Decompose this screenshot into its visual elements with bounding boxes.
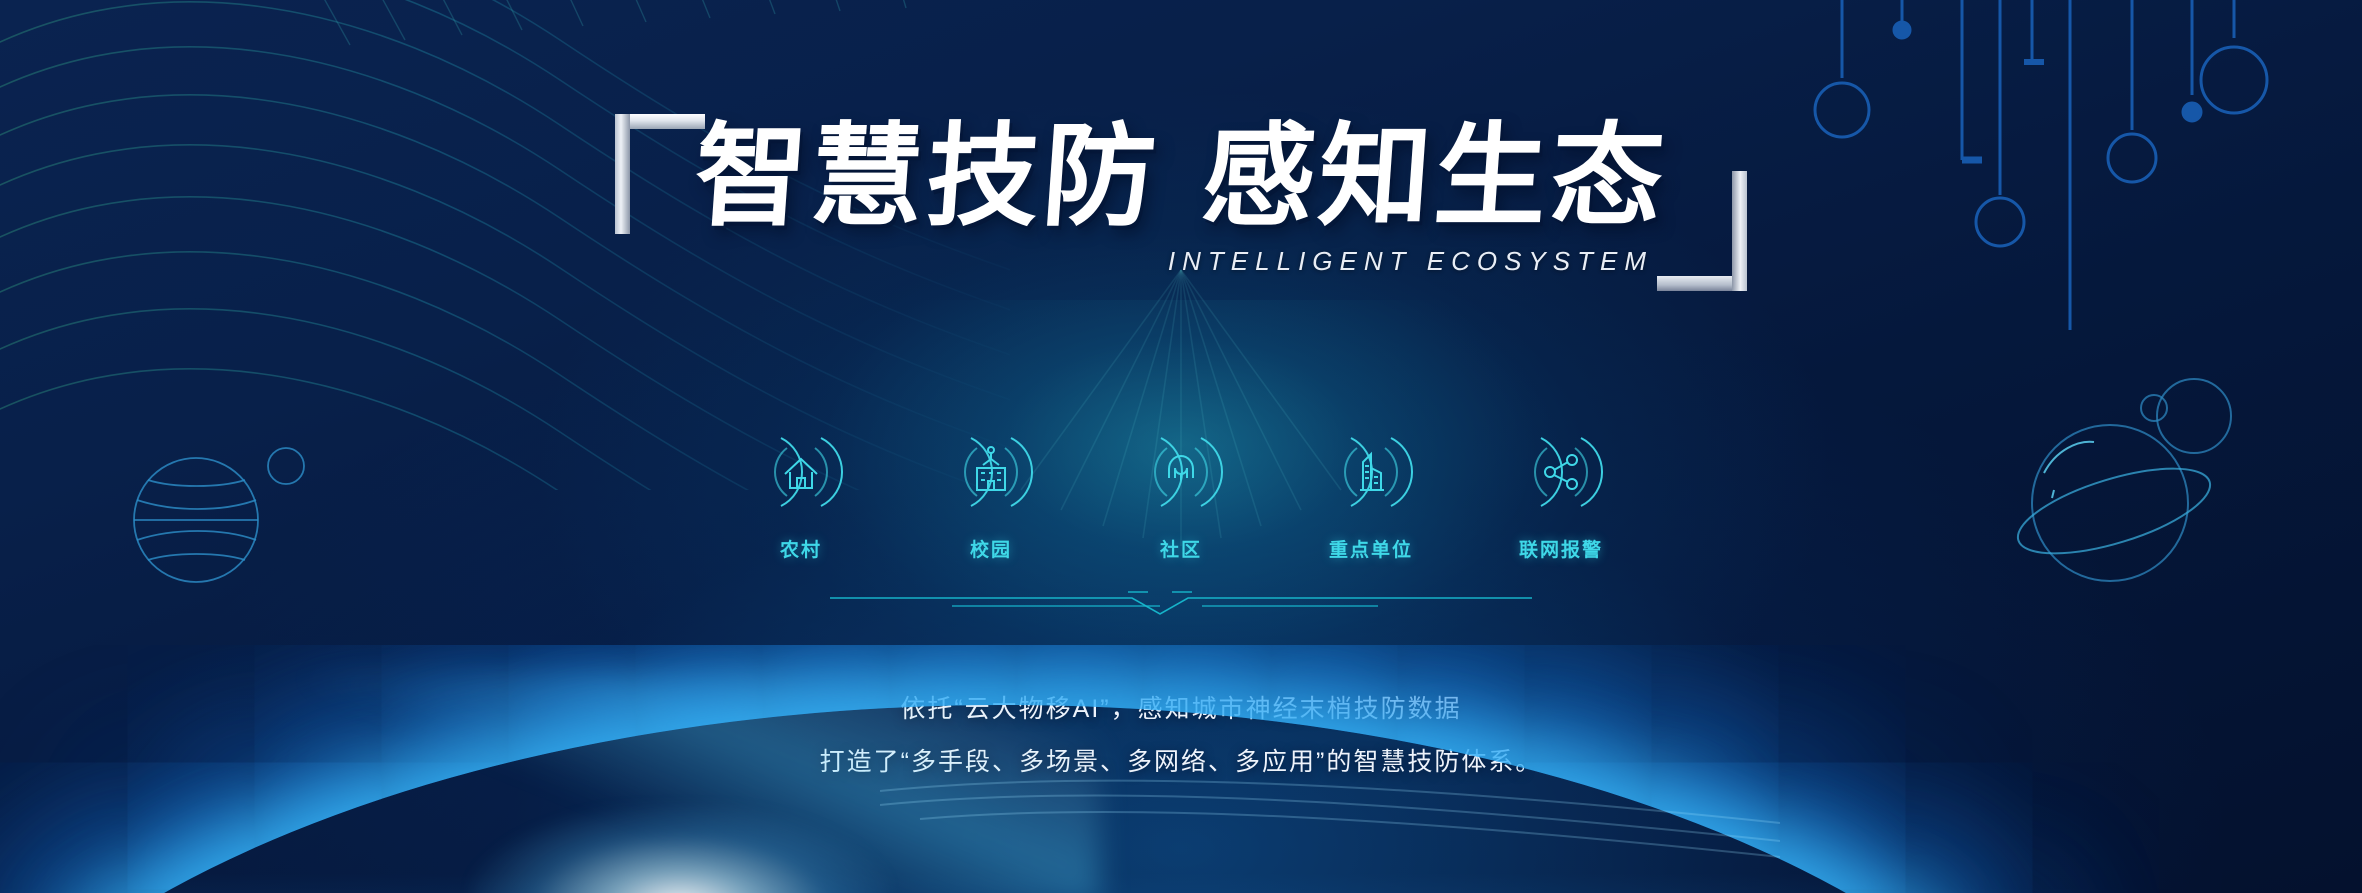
description-block: 依托“云大物移AI”，感知城市神经末梢技防数据 打造了“多手段、多场景、多网络、…	[0, 690, 2362, 796]
school-building-icon	[947, 428, 1035, 516]
skyscraper-icon	[1327, 428, 1415, 516]
category-item-network-alarm[interactable]: 联网报警	[1495, 428, 1627, 562]
category-label: 社区	[1115, 535, 1247, 562]
category-item-campus[interactable]: 校园	[925, 428, 1057, 562]
page-title: 智慧技防感知生态	[691, 118, 1671, 236]
title-block: 智慧技防感知生态 INTELLIGENT ECOSYSTEM	[0, 118, 2362, 277]
community-icon	[1137, 428, 1225, 516]
title-part-1: 智慧技防	[691, 114, 1164, 239]
category-label: 重点单位	[1305, 535, 1437, 562]
description-line-2: 打造了“多手段、多场景、多网络、多应用”的智慧技防体系。	[0, 743, 2362, 782]
description-line-1: 依托“云大物移AI”，感知城市神经末梢技防数据	[0, 690, 2362, 729]
category-icon-row: 农村 校园	[0, 428, 2362, 562]
category-label: 联网报警	[1495, 535, 1627, 562]
category-item-key-units[interactable]: 重点单位	[1305, 428, 1437, 562]
title-part-2: 感知生态	[1199, 114, 1672, 239]
bracket-bottom-right-icon	[1657, 171, 1747, 291]
category-item-rural[interactable]: 农村	[735, 428, 867, 562]
category-item-community[interactable]: 社区	[1115, 428, 1247, 562]
horizon-hotspot	[470, 805, 890, 893]
network-share-icon	[1517, 428, 1605, 516]
smart-security-banner: 智慧技防感知生态 INTELLIGENT ECOSYSTEM 农村	[0, 0, 2362, 893]
section-divider	[830, 588, 1532, 628]
category-label: 农村	[735, 535, 867, 562]
subtitle-english: INTELLIGENT ECOSYSTEM	[695, 246, 1667, 277]
house-icon	[757, 428, 845, 516]
category-label: 校园	[925, 535, 1057, 562]
